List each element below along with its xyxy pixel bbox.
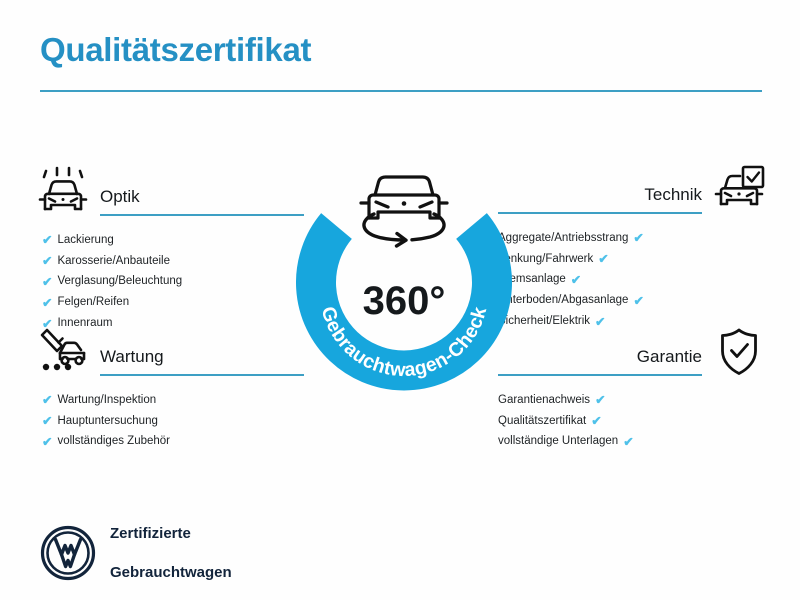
section-optik-header: Optik [36,166,304,218]
list-item-label: Felgen/Reifen [57,297,129,309]
footer-line-1: Zertifizierte [110,524,232,543]
list-item: ✔ Bremsanlage [498,270,766,291]
list-item: ✔ Wartung/Inspektion [36,390,304,411]
check-icon: ✔ [571,274,581,287]
pen-car-service-icon [36,326,90,378]
list-item: ✔ Garantienachweis [498,390,766,411]
section-garantie-divider [498,374,702,376]
list-item-label: Hauptuntersuchung [57,416,157,428]
section-wartung-divider [100,374,304,376]
list-item: ✔ Karosserie/Anbauteile [36,251,304,272]
list-item: ✔ Unterboden/Abgasanlage [498,291,766,312]
car-checkbox-icon [712,164,766,216]
check-icon: ✔ [42,297,52,310]
section-technik-title: Technik [498,185,702,205]
section-wartung-title: Wartung [100,347,304,367]
title-divider [40,90,762,92]
car-rotation-360-icon [361,177,447,246]
list-item: ✔ Felgen/Reifen [36,293,304,314]
check-icon: ✔ [42,415,52,428]
footer-text: Zertifizierte Gebrauchtwagen [110,505,232,601]
certificate-page: Qualitätszertifikat [0,0,800,600]
list-item-label: vollständige Unterlagen [498,436,618,448]
check-icon: ✔ [42,255,52,268]
list-item-label: Qualitätszertifikat [498,416,586,428]
section-garantie-header: Garantie [498,326,766,378]
check-icon: ✔ [42,436,52,449]
list-item: ✔ Aggregate/Antriebsstrang [498,228,766,249]
section-technik: Technik ✔ Aggregate/Antriebsstrang ✔ Len… [498,164,766,332]
list-item: ✔ Qualitätszertifikat [498,411,766,432]
volkswagen-logo [40,525,96,581]
list-item: ✔ Lenkung/Fahrwerk [498,249,766,270]
list-item-label: Garantienachweis [498,395,590,407]
list-item-label: Unterboden/Abgasanlage [498,295,628,307]
check-icon: ✔ [591,415,601,428]
list-item-label: vollständiges Zubehör [57,436,170,448]
list-item-label: Aggregate/Antriebsstrang [498,233,628,245]
check-icon: ✔ [598,253,608,266]
section-garantie-title: Garantie [498,347,702,367]
check-icon: ✔ [42,394,52,407]
shield-check-icon [712,326,766,378]
section-technik-titlewrap: Technik [498,185,702,216]
footer-brand: Zertifizierte Gebrauchtwagen [40,505,232,601]
section-technik-header: Technik [498,164,766,216]
page-header: Qualitätszertifikat [40,32,762,92]
section-wartung: Wartung ✔ Wartung/Inspektion ✔ Hauptunte… [36,326,304,453]
check-icon: ✔ [633,232,643,245]
page-title: Qualitätszertifikat [40,32,762,68]
section-wartung-list: ✔ Wartung/Inspektion ✔ Hauptuntersuchung… [36,390,304,453]
section-technik-list: ✔ Aggregate/Antriebsstrang ✔ Lenkung/Fah… [498,228,766,332]
section-garantie: Garantie ✔ Garantienachweis ✔ Qualitätsz… [498,326,766,453]
section-wartung-titlewrap: Wartung [100,347,304,378]
footer-line-2: Gebrauchtwagen [110,563,232,582]
list-item: ✔ Hauptuntersuchung [36,411,304,432]
list-item: ✔ Verglasung/Beleuchtung [36,272,304,293]
list-item: ✔ vollständiges Zubehör [36,432,304,453]
check-icon: ✔ [633,295,643,308]
list-item: ✔ Lackierung [36,230,304,251]
list-item-label: Verglasung/Beleuchtung [57,276,182,288]
section-optik: Optik ✔ Lackierung ✔ Karosserie/Anbautei… [36,166,304,334]
list-item-label: Lackierung [57,235,113,247]
check-icon: ✔ [42,276,52,289]
check-icon: ✔ [623,436,633,449]
section-technik-divider [498,212,702,214]
list-item: ✔ vollständige Unterlagen [498,432,766,453]
section-optik-titlewrap: Optik [100,187,304,218]
section-optik-list: ✔ Lackierung ✔ Karosserie/Anbauteile ✔ V… [36,230,304,334]
check-icon: ✔ [595,394,605,407]
list-item-label: Wartung/Inspektion [57,395,156,407]
section-garantie-titlewrap: Garantie [498,347,702,378]
list-item-label: Karosserie/Anbauteile [57,256,170,268]
check-icon: ✔ [42,234,52,247]
badge-center-label: 360° [363,279,446,323]
section-optik-title: Optik [100,187,304,207]
section-garantie-list: ✔ Garantienachweis ✔ Qualitätszertifikat… [498,390,766,453]
section-wartung-header: Wartung [36,326,304,378]
section-optik-divider [100,214,304,216]
car-shine-icon [36,166,90,218]
list-item-label: Lenkung/Fahrwerk [498,254,593,266]
badge-360-gebrauchtwagen-check: 360° Gebrauchtwagen-Check [296,152,512,396]
